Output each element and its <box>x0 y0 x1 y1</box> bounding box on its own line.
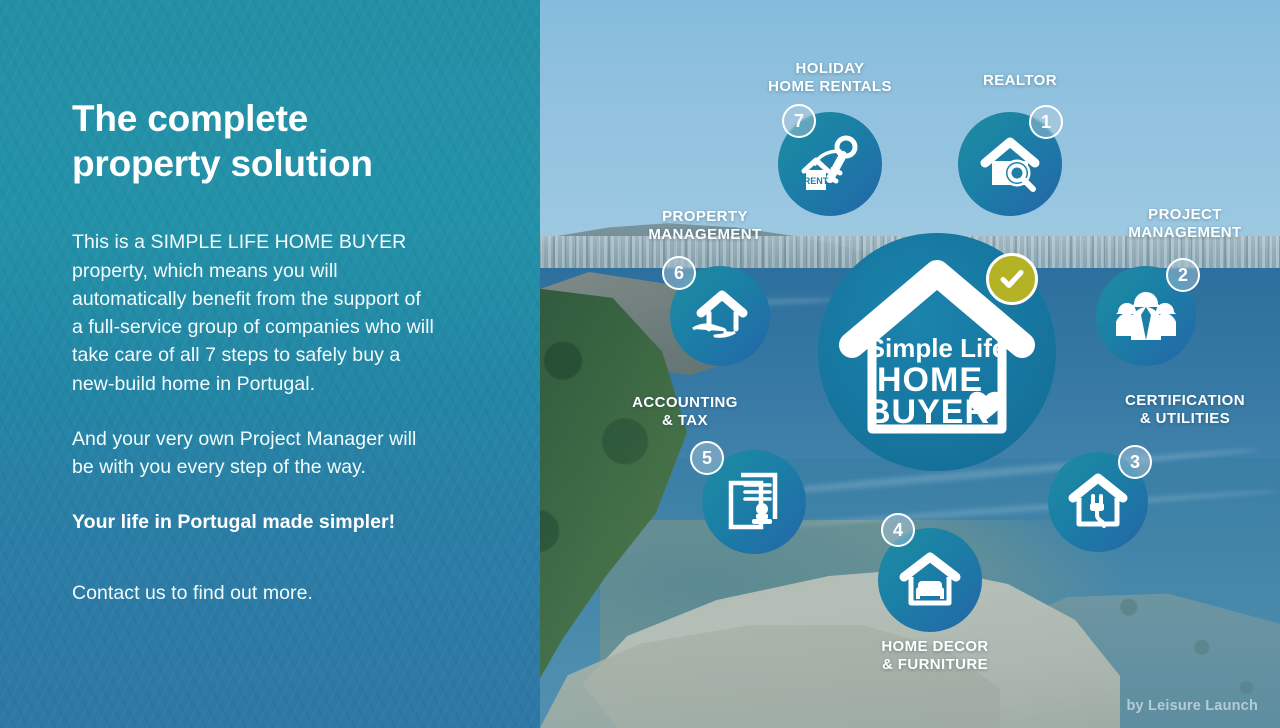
node-label-accounting-tax: ACCOUNTING & TAX <box>600 394 770 429</box>
infographic-slide: The complete property solution This is a… <box>0 0 1280 728</box>
node-label-certification-utilities: CERTIFICATION & UTILITIES <box>1090 392 1280 427</box>
node-label-realtor: REALTOR <box>940 72 1100 90</box>
check-badge-icon <box>986 253 1038 305</box>
node-number-7: 7 <box>782 104 816 138</box>
node-label-holiday-home-rentals: HOLIDAY HOME RENTALS <box>740 60 920 95</box>
node-number-5: 5 <box>690 441 724 475</box>
rent-tag-label: RENT <box>804 176 829 186</box>
node-number-3: 3 <box>1118 445 1152 479</box>
page-title: The complete property solution <box>72 96 470 186</box>
node-number-1: 1 <box>1029 105 1063 139</box>
node-number-4: 4 <box>881 513 915 547</box>
node-label-home-decor-furniture: HOME DECOR & FURNITURE <box>845 638 1025 673</box>
node-label-project-management: PROJECT MANAGEMENT <box>1090 206 1280 241</box>
tagline: Your life in Portugal made simpler! <box>72 508 470 536</box>
node-label-property-management: PROPERTY MANAGEMENT <box>610 208 800 243</box>
node-number-6: 6 <box>662 256 696 290</box>
call-to-action: Contact us to find out more. <box>72 579 470 607</box>
hub-brand-line1: Simple Life <box>868 333 1007 363</box>
left-text-panel: The complete property solution This is a… <box>0 0 540 728</box>
credit-text: by Leisure Launch <box>1126 698 1258 714</box>
paragraph-intro: This is a SIMPLE LIFE HOME BUYER propert… <box>72 228 470 398</box>
paragraph-project-manager: And your very own Project Manager will b… <box>72 425 470 482</box>
body-copy: This is a SIMPLE LIFE HOME BUYER propert… <box>72 228 470 607</box>
node-number-2: 2 <box>1166 258 1200 292</box>
